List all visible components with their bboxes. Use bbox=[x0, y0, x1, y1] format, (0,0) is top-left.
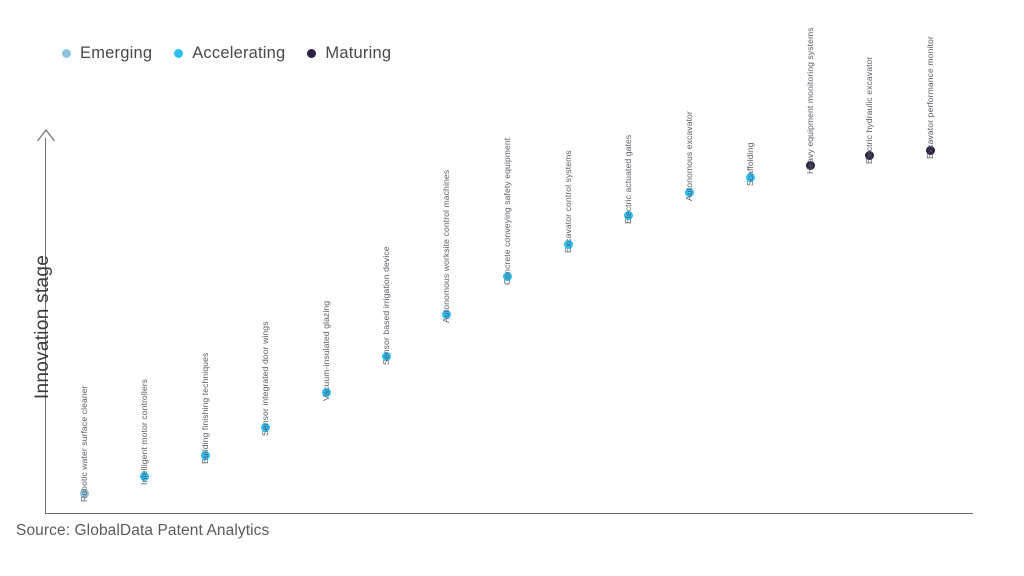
data-point-label: Scaffolding bbox=[750, 142, 760, 185]
data-point-label: Excavator control systems bbox=[568, 150, 578, 253]
legend-item-label: Accelerating bbox=[192, 44, 285, 63]
legend-item-label: Maturing bbox=[325, 44, 391, 63]
source-note: Source: GlobalData Patent Analytics bbox=[16, 522, 269, 540]
legend-item-maturing[interactable]: Maturing bbox=[307, 44, 391, 63]
data-point-label: Building finishing techniques bbox=[205, 352, 215, 463]
data-point-label: Robotic water surface cleaner bbox=[84, 385, 94, 502]
data-point-label: Electric actuated gates bbox=[628, 134, 638, 223]
legend-item-accelerating[interactable]: Accelerating bbox=[174, 44, 285, 63]
legend-swatch-icon bbox=[174, 49, 183, 58]
legend-swatch-icon bbox=[62, 49, 71, 58]
data-point-label: Vacuum-insulated glazing bbox=[326, 300, 336, 400]
data-point-label: Excavator performance monitor bbox=[930, 36, 940, 159]
y-axis-title: Innovation stage bbox=[32, 237, 54, 417]
data-point-label: Autonomous worksite control machines bbox=[446, 169, 456, 322]
data-point-label: Sensor based irrigation device bbox=[386, 246, 396, 365]
data-point-label: Electric hydraulic excavator bbox=[869, 56, 879, 163]
data-point-label: Sensor integrated door wings bbox=[265, 321, 275, 436]
legend-item-emerging[interactable]: Emerging bbox=[62, 44, 152, 63]
data-point-label: Heavy equipment monitoring systems bbox=[810, 27, 820, 174]
x-axis-line bbox=[45, 513, 973, 514]
data-point-label: Concrete conveying safety equipment bbox=[507, 137, 517, 284]
innovation-stage-scatter-chart: EmergingAcceleratingMaturing Innovation … bbox=[0, 0, 1024, 576]
chart-legend: EmergingAcceleratingMaturing bbox=[62, 44, 413, 63]
data-point-label: Autonomous excavator bbox=[689, 111, 699, 201]
legend-item-label: Emerging bbox=[80, 44, 152, 63]
data-point-label: Intelligent motor controllers bbox=[144, 378, 154, 484]
legend-swatch-icon bbox=[307, 49, 316, 58]
y-axis-arrow-icon bbox=[36, 128, 56, 142]
